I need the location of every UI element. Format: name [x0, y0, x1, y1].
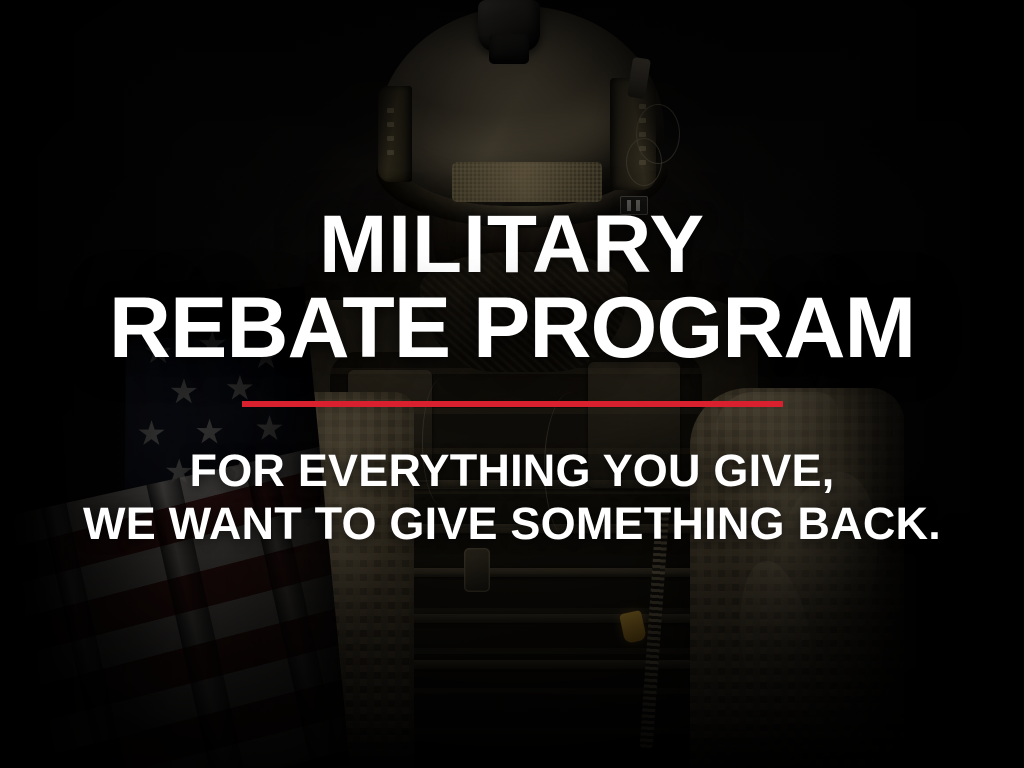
headline-line-1: MILITARY — [0, 206, 1024, 285]
page-title: MILITARY REBATE PROGRAM — [0, 206, 1024, 369]
red-divider-rule — [242, 401, 783, 407]
tagline-line-1: FOR EVERYTHING YOU GIVE, — [0, 444, 1024, 497]
text-overlay: MILITARY REBATE PROGRAM FOR EVERYTHING Y… — [0, 0, 1024, 768]
tagline-line-2: WE WANT TO GIVE SOMETHING BACK. — [0, 497, 1024, 550]
headline-line-2: REBATE PROGRAM — [0, 287, 1024, 370]
tagline: FOR EVERYTHING YOU GIVE, WE WANT TO GIVE… — [0, 444, 1024, 550]
military-rebate-banner: MILITARY REBATE PROGRAM FOR EVERYTHING Y… — [0, 0, 1024, 768]
